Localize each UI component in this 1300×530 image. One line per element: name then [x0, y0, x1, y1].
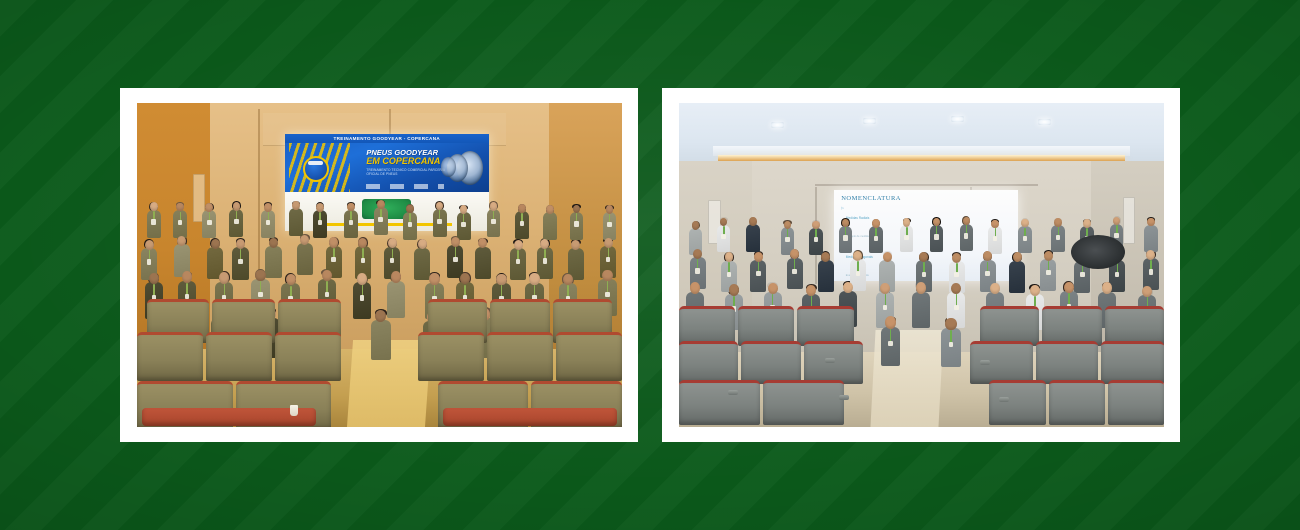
goodyear-logo-icon: [303, 156, 329, 182]
crowd-person-badge: [151, 219, 155, 224]
crowd-person-head: [357, 273, 367, 284]
crowd-person-badge: [361, 258, 365, 263]
crowd-person-head: [316, 203, 324, 212]
crowd-person-head: [322, 270, 332, 281]
crowd-person-head: [690, 282, 700, 293]
crowd-person: [297, 243, 313, 275]
crowd-person-badge: [785, 237, 789, 242]
auditorium-seat: [487, 332, 553, 381]
photo-card-right[interactable]: NOMENCLATURA ▷ Medidas Radiais Exemplo d…: [662, 88, 1180, 442]
goodyear-banner: TREINAMENTO GOODYEAR - COPERCANA PNEUS G…: [285, 134, 489, 192]
crowd-person: [387, 281, 405, 318]
crowd-person-head: [236, 239, 245, 249]
photo-card-left[interactable]: TREINAMENTO GOODYEAR - COPERCANA PNEUS G…: [120, 88, 638, 442]
crowd-person-badge: [574, 221, 578, 226]
crowd-person-lanyard: [857, 261, 859, 271]
banner-sponsor-logos: [366, 184, 443, 189]
crowd-person-head: [883, 252, 892, 262]
crowd-person-head: [872, 219, 880, 228]
crowd-person-head: [1013, 252, 1022, 262]
crowd-person-head: [529, 273, 539, 284]
crowd-person: [414, 248, 430, 280]
crowd-person-badge: [390, 258, 394, 263]
auditorium-seat: [418, 332, 484, 381]
auditorium-seat: [1049, 380, 1105, 425]
crowd-person-head: [812, 221, 820, 230]
crowd-person-badge: [234, 219, 238, 224]
crowd-person-badge: [325, 292, 329, 297]
seat-arm-tablet: [999, 397, 1009, 402]
crowd-person-badge: [331, 257, 335, 262]
ceiling-spotlight-icon-2: [863, 118, 876, 124]
crowd-person-badge: [993, 236, 997, 241]
banner-body: PNEUS GOODYEAR EM COPERCANA TREINAMENTO …: [285, 143, 489, 192]
crowd-person-head: [255, 270, 265, 281]
crowd-person-head: [149, 273, 159, 284]
crowd-person-badge: [258, 292, 262, 297]
crowd-person: [289, 208, 303, 236]
crowd-person-badge: [607, 222, 611, 227]
crowd-person-head: [514, 240, 523, 250]
auditorium-seat: [741, 341, 800, 385]
crowd-person-badge: [874, 236, 878, 241]
crowd-person-head: [451, 237, 460, 247]
crowd-person-badge: [207, 220, 211, 225]
crowd-person-head: [391, 271, 401, 282]
auditorium-seat: [989, 380, 1045, 425]
crowd-person-badge: [904, 235, 908, 240]
crowd-person-head: [952, 253, 961, 263]
crowd-person-badge: [437, 219, 441, 224]
crowd-person-head: [885, 316, 896, 328]
banner-header-text: TREINAMENTO GOODYEAR - COPERCANA: [285, 134, 489, 143]
crowd-person-badge: [954, 272, 958, 277]
crowd-person-badge: [985, 271, 989, 276]
banner-headline-line2: EM COPERCANA: [366, 156, 440, 166]
crowd-person-badge: [949, 342, 953, 347]
crowd-person-head: [546, 205, 554, 214]
crowd-person-badge: [461, 222, 465, 227]
crowd-person-badge: [1046, 270, 1050, 275]
crowd-person-head: [916, 282, 926, 293]
crowd-person-head: [903, 218, 911, 227]
seat-arm-tablet: [839, 395, 849, 400]
crowd-person-badge: [605, 292, 609, 297]
crowd-person-head: [219, 272, 229, 283]
crowd-person-badge: [1149, 269, 1153, 274]
crowd-person: [543, 212, 557, 240]
crowd-person-head: [211, 239, 220, 249]
crowd-person-head: [377, 200, 385, 209]
crowd-person-head: [1030, 285, 1040, 296]
crowd-person-head: [292, 201, 300, 210]
bullet-marker-icon: ▷: [841, 206, 844, 210]
crowd-person-badge: [491, 219, 495, 224]
photo-left-image: TREINAMENTO GOODYEAR - COPERCANA PNEUS G…: [137, 103, 622, 427]
crowd-person-head: [150, 202, 158, 211]
ceiling-spotlight-icon: [771, 122, 784, 128]
crowd-person-head: [182, 271, 192, 282]
paper-cup: [290, 405, 298, 416]
photo-right-image: NOMENCLATURA ▷ Medidas Radiais Exemplo d…: [679, 103, 1164, 427]
auditorium-seat: [1108, 380, 1164, 425]
crowd-person-head: [205, 203, 213, 212]
banner-headline: PNEUS GOODYEAR EM COPERCANA: [366, 149, 452, 167]
ceiling-spotlight-icon-3: [951, 116, 964, 122]
crowd-person-badge: [238, 259, 242, 264]
crowd-person: [818, 260, 834, 292]
crowd-person-badge: [408, 222, 412, 227]
crowd-person-head: [264, 203, 272, 212]
seat-arm-tablet: [825, 358, 835, 363]
crowd-person-badge: [606, 257, 610, 262]
auditorium-seat: [275, 332, 341, 381]
seat-arm-tablet: [728, 390, 738, 395]
crowd-person-head: [347, 203, 355, 212]
crowd-person: [265, 246, 281, 278]
crowd-person-badge: [1115, 272, 1119, 277]
crowd-person-head: [1102, 282, 1112, 293]
crowd-person: [371, 320, 391, 360]
crowd-person-head: [604, 238, 613, 248]
crowd-person-badge: [922, 272, 926, 277]
page-canvas: TREINAMENTO GOODYEAR - COPERCANA PNEUS G…: [0, 0, 1300, 530]
crowd-person-badge: [964, 233, 968, 238]
right-photo-panel-top-seam: [815, 184, 1038, 186]
crowd-person-badge: [954, 305, 958, 310]
auditorium-seat: [679, 341, 738, 385]
crowd-person-badge: [266, 220, 270, 225]
slide-title: NOMENCLATURA: [841, 195, 1011, 202]
crowd-person-head: [693, 249, 702, 259]
crowd-person-head: [145, 240, 154, 250]
crowd-person-head: [768, 283, 778, 294]
auditorium-seat: [679, 380, 760, 425]
crowd-person-badge: [843, 235, 847, 240]
crowd-person-head: [286, 274, 296, 285]
crowd-person-head: [945, 318, 956, 330]
crowd-person-head: [233, 202, 241, 211]
crowd-person-head: [429, 273, 439, 284]
crowd-person-badge: [1023, 236, 1027, 241]
crowd-person-badge: [934, 234, 938, 239]
auditorium-seat: [1101, 341, 1164, 385]
crowd-person: [746, 224, 760, 251]
crowd-person-badge: [814, 237, 818, 242]
tire-graphic-icon-3: [441, 157, 456, 177]
crowd-person-head: [991, 220, 999, 229]
tire-prop: [1071, 235, 1125, 269]
crowd-person-head: [406, 205, 414, 214]
crowd-person-head: [602, 270, 612, 281]
ceiling-spotlight-icon-4: [1038, 119, 1051, 125]
crowd-person-badge: [520, 221, 524, 226]
crowd-person-head: [606, 205, 614, 214]
crowd-person-badge: [888, 341, 892, 346]
auditorium-seat-cushion: [443, 408, 618, 426]
crowd-person-badge: [360, 295, 364, 300]
crowd-person: [475, 247, 491, 279]
auditorium-seat: [137, 332, 203, 381]
crowd-person-badge: [453, 257, 457, 262]
crowd-person-badge: [516, 259, 520, 264]
crowd-person-badge: [695, 268, 699, 273]
crowd-person-badge: [856, 271, 860, 276]
auditorium-seat: [206, 332, 272, 381]
goodyear-logo-wing-icon: [308, 161, 323, 165]
crowd-person-badge: [147, 259, 151, 264]
auditorium-seat: [763, 380, 844, 425]
crowd-person-head: [518, 204, 526, 213]
auditorium-seat: [1036, 341, 1099, 385]
crowd-person-badge: [792, 269, 796, 274]
crowd-person-badge: [1114, 233, 1118, 238]
crowd-person-badge: [1080, 272, 1084, 277]
crowd-person-head: [1147, 218, 1155, 227]
crowd-person-badge: [318, 220, 322, 225]
crowd-person-head: [1044, 251, 1053, 261]
seat-arm-tablet: [980, 360, 990, 365]
crowd-person-head: [490, 202, 498, 211]
crowd-person-head: [749, 217, 757, 226]
crowd-person-head: [269, 238, 278, 248]
crowd-person: [1144, 225, 1158, 252]
crowd-person-badge: [349, 220, 353, 225]
crowd-person-head: [496, 274, 506, 285]
auditorium-seat: [556, 332, 622, 381]
crowd-person-lanyard: [224, 284, 226, 296]
crowd-person-head: [1054, 218, 1062, 227]
crowd-person: [1009, 261, 1025, 293]
crowd-person-head: [1083, 219, 1091, 228]
crowd-person-head: [754, 252, 763, 262]
crowd-person-head: [729, 284, 739, 295]
crowd-person-badge: [756, 271, 760, 276]
crowd-person-head: [329, 237, 338, 247]
crowd-person-badge: [543, 258, 547, 263]
crowd-person-badge: [1056, 235, 1060, 240]
crowd-person-head: [1064, 282, 1074, 293]
crowd-person-badge: [378, 217, 382, 222]
banner-subtext: TREINAMENTO TECNICO COMERCIAL PARCERIA O…: [366, 168, 447, 176]
crowd-person-badge: [883, 305, 887, 310]
crowd-person-lanyard: [950, 330, 952, 343]
crowd-person: [912, 292, 930, 328]
crowd-person-badge: [721, 234, 725, 239]
crowd-person-badge: [178, 220, 182, 225]
crowd-person-badge: [727, 272, 731, 277]
